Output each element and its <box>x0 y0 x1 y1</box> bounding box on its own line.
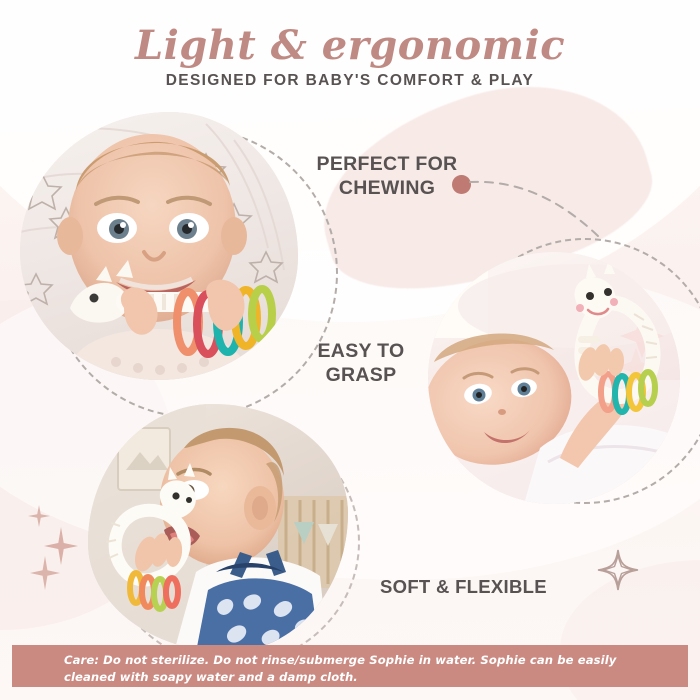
feature-label-flexible: SOFT & FLEXIBLE <box>380 576 580 599</box>
photo-flexible <box>88 404 348 652</box>
page-subtitle: DESIGNED FOR BABY'S COMFORT & PLAY <box>0 72 700 90</box>
promo-graphic: Light & ergonomic DESIGNED FOR BABY'S CO… <box>0 0 700 700</box>
photo-flexible-art <box>88 404 348 652</box>
photo-grasp <box>428 252 680 504</box>
rose-dot <box>452 175 471 194</box>
feature-label-chewing: PERFECT FOR CHEWING <box>302 153 472 201</box>
eight-point-star-icon <box>596 548 640 592</box>
page-title: Light & ergonomic <box>0 24 700 68</box>
feature-label-grasp: EASY TO GRASP <box>300 340 422 388</box>
care-instructions-text: Care: Do not sterilize. Do not rinse/sub… <box>64 652 650 686</box>
care-instructions-band: Care: Do not sterilize. Do not rinse/sub… <box>12 645 688 687</box>
photo-grasp-art <box>428 252 680 504</box>
